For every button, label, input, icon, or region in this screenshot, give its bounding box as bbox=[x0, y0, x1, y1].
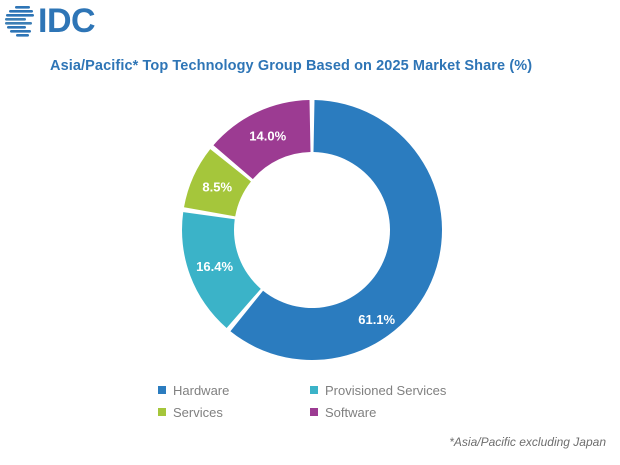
legend-label: Services bbox=[173, 405, 223, 420]
legend-label: Provisioned Services bbox=[325, 383, 446, 398]
legend-item[interactable]: Software bbox=[310, 401, 488, 423]
idc-wordmark: IDC bbox=[38, 3, 95, 39]
slice-value-label: 14.0% bbox=[249, 128, 286, 143]
legend-item[interactable]: Hardware bbox=[158, 379, 310, 401]
footnote: *Asia/Pacific excluding Japan bbox=[449, 435, 606, 449]
slice-value-label: 61.1% bbox=[358, 312, 395, 327]
chart-legend: HardwareProvisioned ServicesServicesSoft… bbox=[158, 379, 488, 423]
legend-swatch-icon bbox=[158, 386, 166, 394]
legend-swatch-icon bbox=[310, 408, 318, 416]
globe-icon bbox=[4, 3, 40, 39]
donut-chart-svg: 61.1%16.4%8.5%14.0% bbox=[179, 97, 445, 363]
slice-value-label: 16.4% bbox=[196, 259, 233, 274]
legend-swatch-icon bbox=[310, 386, 318, 394]
donut-chart: 61.1%16.4%8.5%14.0% bbox=[179, 97, 445, 363]
slice-value-label: 8.5% bbox=[202, 180, 232, 195]
legend-label: Hardware bbox=[173, 383, 229, 398]
legend-item[interactable]: Provisioned Services bbox=[310, 379, 488, 401]
legend-swatch-icon bbox=[158, 408, 166, 416]
legend-label: Software bbox=[325, 405, 376, 420]
legend-item[interactable]: Services bbox=[158, 401, 310, 423]
chart-title: Asia/Pacific* Top Technology Group Based… bbox=[50, 58, 532, 74]
idc-logo: IDC bbox=[4, 0, 95, 42]
donut-slices bbox=[182, 100, 442, 360]
